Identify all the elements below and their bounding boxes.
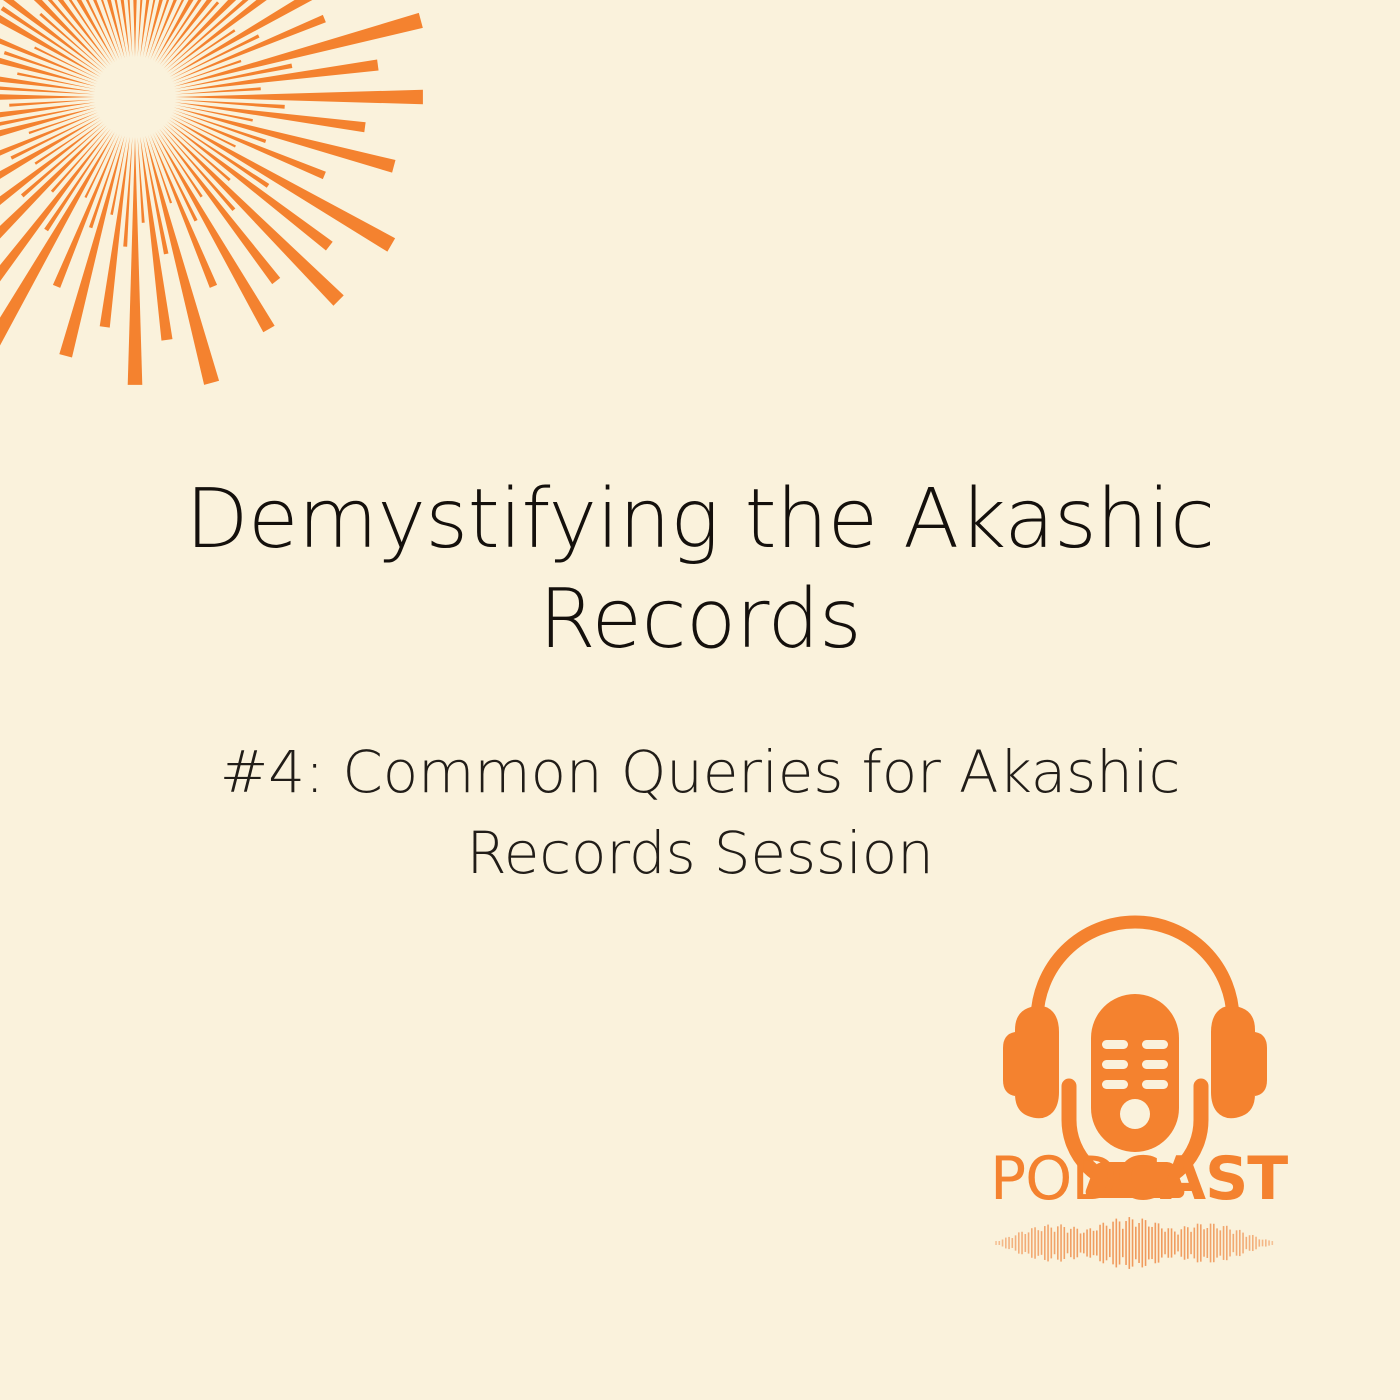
- wordmark-cast: CAST: [1117, 1144, 1288, 1214]
- episode-subtitle: #4: Common Queries for Akashic Records S…: [200, 732, 1200, 894]
- podcast-cover-art: Demystifying the Akashic Records #4: Com…: [0, 0, 1400, 1400]
- episode-text-block: Demystifying the Akashic Records #4: Com…: [0, 470, 1400, 894]
- podcast-wordmark: PODCAST: [990, 1148, 1280, 1210]
- sunburst-rays-decoration: [0, 0, 460, 430]
- audio-waveform-icon: [995, 1215, 1275, 1271]
- page-title: Demystifying the Akashic Records: [0, 470, 1400, 670]
- podcast-logo: PODCAST: [990, 890, 1280, 1290]
- wordmark-pod: POD: [990, 1144, 1117, 1214]
